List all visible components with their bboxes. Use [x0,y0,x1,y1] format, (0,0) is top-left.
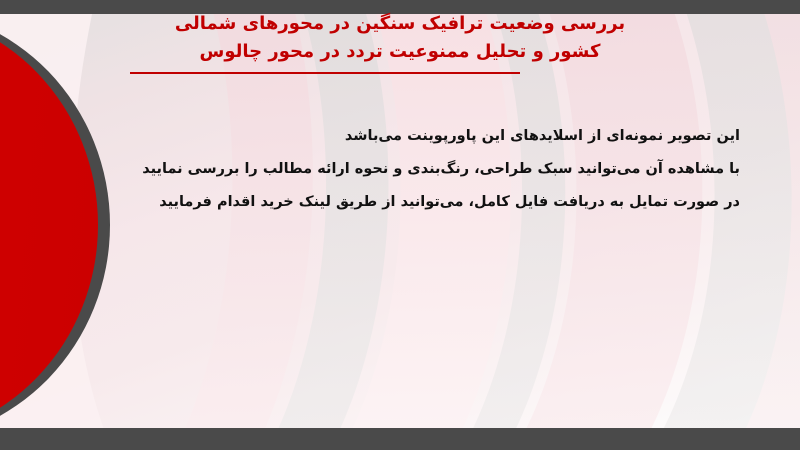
title-underline-rule [130,72,520,74]
content-panel [0,14,800,428]
title-line-1: بررسی وضعیت ترافیک سنگین در محورهای شمال… [0,10,800,38]
presentation-slide: بررسی وضعیت ترافیک سنگین در محورهای شمال… [0,0,800,450]
bottom-band [0,428,800,450]
body-line-2: با مشاهده آن می‌توانید سبک طراحی، رنگ‌بن… [100,153,740,186]
body-line-1: این تصویر نمونه‌ای از اسلایدهای این پاور… [100,120,740,153]
slide-title: بررسی وضعیت ترافیک سنگین در محورهای شمال… [0,10,800,66]
body-line-3: در صورت تمایل به دریافت فایل کامل، می‌تو… [100,186,740,219]
slide-body-text: این تصویر نمونه‌ای از اسلایدهای این پاور… [0,120,800,219]
title-line-2: کشور و تحلیل ممنوعیت تردد در محور چالوس [0,38,800,66]
